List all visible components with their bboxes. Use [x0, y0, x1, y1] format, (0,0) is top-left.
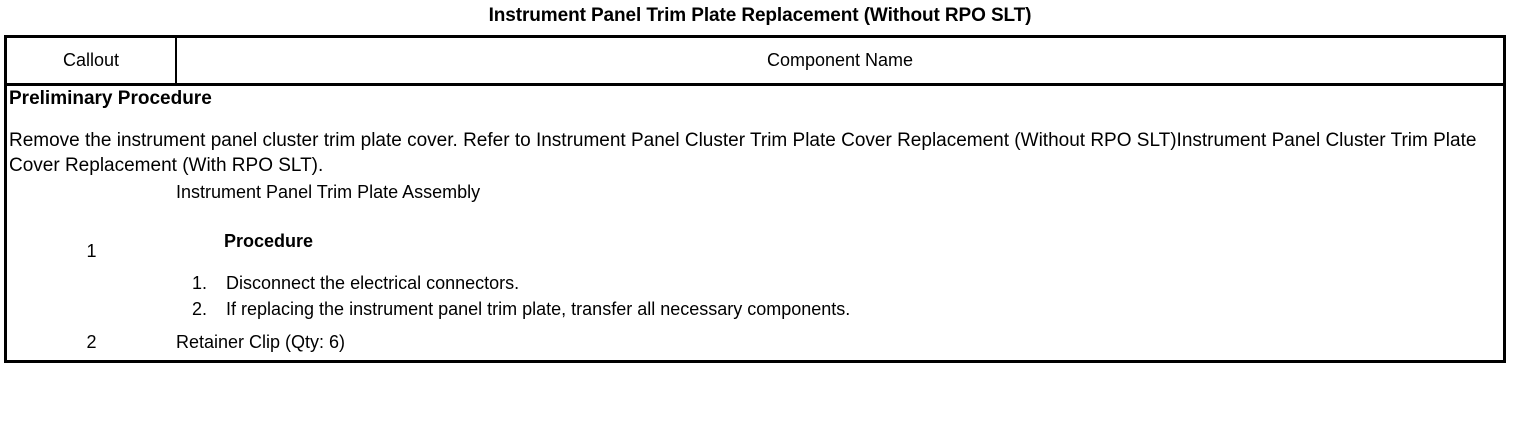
procedure-subheading: Procedure [224, 230, 1503, 252]
component-cell-1: Instrument Panel Trim Plate Assembly Pro… [176, 178, 1503, 324]
column-header-callout: Callout [7, 38, 176, 85]
column-header-component-name: Component Name [176, 38, 1503, 85]
procedure-table-container: Callout Component Name Preliminary Proce… [4, 35, 1506, 363]
component-name-2: Retainer Clip (Qty: 6) [176, 324, 1503, 360]
table-row: 1 Instrument Panel Trim Plate Assembly P… [7, 178, 1503, 324]
procedure-table: Callout Component Name Preliminary Proce… [7, 38, 1503, 360]
callout-number-1: 1 [7, 178, 176, 324]
document-page: Instrument Panel Trim Plate Replacement … [0, 0, 1520, 448]
callout-number-2: 2 [7, 324, 176, 360]
preliminary-procedure-body: Remove the instrument panel cluster trim… [7, 128, 1503, 178]
table-header-row: Callout Component Name [7, 38, 1503, 85]
preliminary-procedure-heading: Preliminary Procedure [7, 86, 1503, 112]
list-item: 1. Disconnect the electrical connectors. [176, 270, 1503, 296]
list-item: 2. If replacing the instrument panel tri… [176, 296, 1503, 322]
spacer [7, 112, 1503, 128]
step-text: If replacing the instrument panel trim p… [226, 299, 850, 319]
step-number: 2. [192, 296, 220, 322]
page-title: Instrument Panel Trim Plate Replacement … [0, 0, 1520, 27]
preliminary-procedure-cell: Preliminary Procedure Remove the instrum… [7, 85, 1503, 179]
step-text: Disconnect the electrical connectors. [226, 273, 519, 293]
component-name-1: Instrument Panel Trim Plate Assembly [176, 178, 1503, 204]
procedure-step-list: 1. Disconnect the electrical connectors.… [176, 270, 1503, 322]
preliminary-procedure-row: Preliminary Procedure Remove the instrum… [7, 85, 1503, 179]
table-row: 2 Retainer Clip (Qty: 6) [7, 324, 1503, 360]
step-number: 1. [192, 270, 220, 296]
